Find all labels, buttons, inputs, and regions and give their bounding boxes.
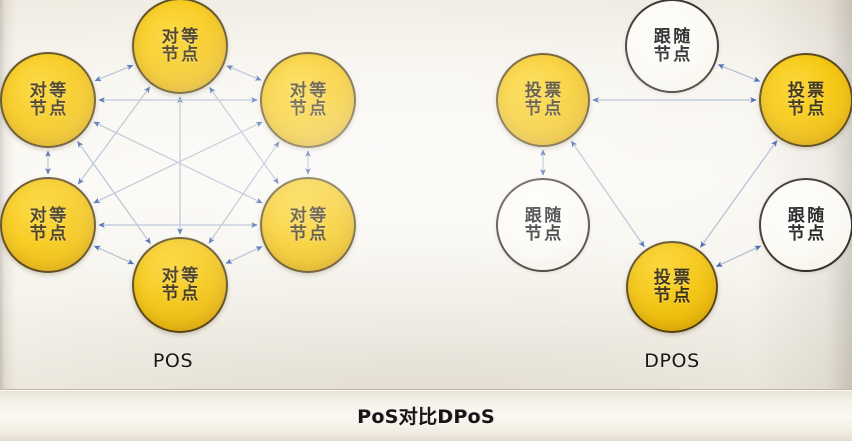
node-d6[interactable]: 投票节点 <box>626 241 718 333</box>
node-d5[interactable]: 跟随节点 <box>759 178 852 272</box>
network-link <box>94 246 133 264</box>
node-label-line2: 节点 <box>287 225 329 243</box>
node-label-line2: 节点 <box>522 100 564 118</box>
node-label-line2: 节点 <box>159 285 201 303</box>
network-diagram <box>0 0 852 441</box>
node-label-line1: 跟随 <box>651 28 693 46</box>
network-link <box>95 65 133 80</box>
node-p2[interactable]: 对等节点 <box>0 52 96 148</box>
network-link <box>718 65 759 82</box>
node-label-line2: 节点 <box>522 225 564 243</box>
node-label-line1: 对等 <box>159 28 201 46</box>
node-label-line1: 对等 <box>287 82 329 100</box>
slide-canvas: 对等节点对等节点对等节点对等节点对等节点对等节点跟随节点投票节点投票节点跟随节点… <box>0 0 852 441</box>
node-d3[interactable]: 投票节点 <box>759 53 852 147</box>
node-p4[interactable]: 对等节点 <box>0 177 96 273</box>
node-d4[interactable]: 跟随节点 <box>496 178 590 272</box>
node-label-line1: 投票 <box>651 269 693 287</box>
node-d2[interactable]: 投票节点 <box>496 53 590 147</box>
network-link <box>716 246 760 266</box>
node-label-line2: 节点 <box>651 287 693 305</box>
node-label-line1: 对等 <box>27 82 69 100</box>
caption-bar: PoS对比DPoS <box>0 389 852 441</box>
network-link <box>227 66 261 80</box>
node-p5[interactable]: 对等节点 <box>260 177 356 273</box>
node-label-line1: 跟随 <box>522 207 564 225</box>
node-label-line1: 投票 <box>785 82 827 100</box>
node-label-line2: 节点 <box>785 100 827 118</box>
node-p3[interactable]: 对等节点 <box>260 52 356 148</box>
node-label-line1: 对等 <box>287 207 329 225</box>
caption-text: PoS对比DPoS <box>357 402 495 429</box>
network-link <box>226 247 262 264</box>
node-label-line1: 对等 <box>27 207 69 225</box>
node-label-line1: 投票 <box>522 82 564 100</box>
node-p1[interactable]: 对等节点 <box>132 0 228 94</box>
node-label-line2: 节点 <box>159 46 201 64</box>
node-d1[interactable]: 跟随节点 <box>625 0 719 93</box>
node-label-line2: 节点 <box>287 100 329 118</box>
node-p6[interactable]: 对等节点 <box>132 237 228 333</box>
panel-label-dpos: DPOS <box>644 350 700 372</box>
node-label-line2: 节点 <box>27 100 69 118</box>
panel-label-pos: POS <box>153 350 193 372</box>
node-label-line2: 节点 <box>27 225 69 243</box>
node-label-line2: 节点 <box>785 225 827 243</box>
node-label-line1: 跟随 <box>785 207 827 225</box>
node-label-line1: 对等 <box>159 267 201 285</box>
node-label-line2: 节点 <box>651 46 693 64</box>
